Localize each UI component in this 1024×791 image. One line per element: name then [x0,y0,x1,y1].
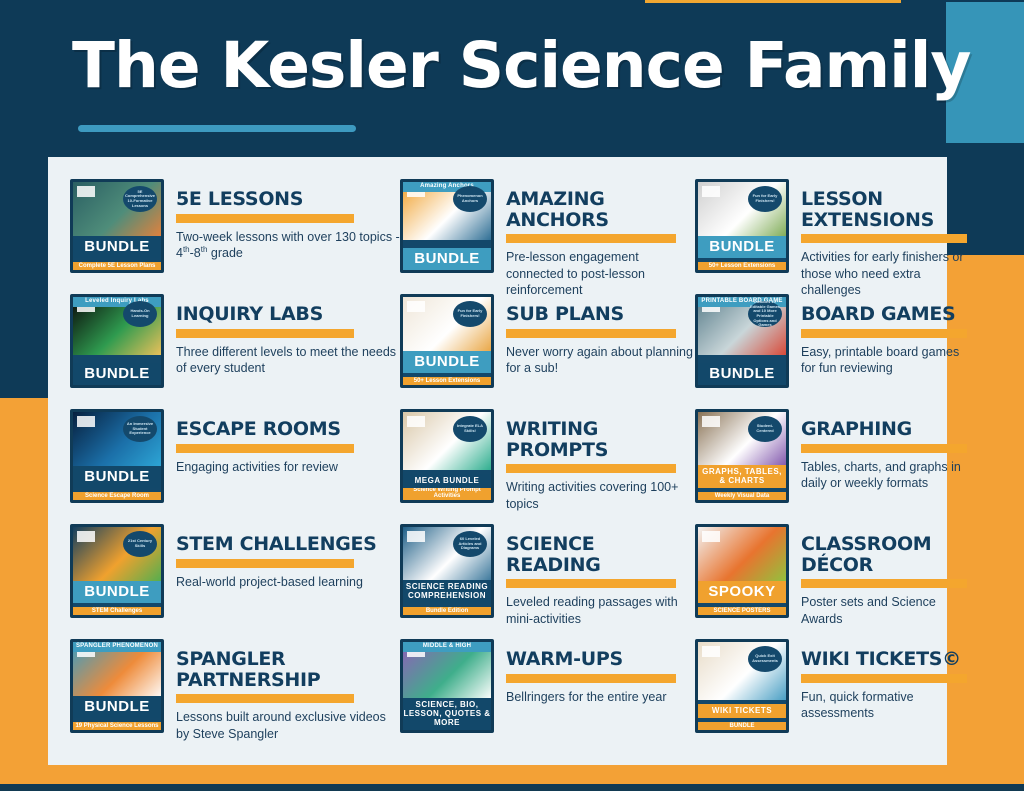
product-item[interactable]: Amazing AnchorsPhenomenon AnchorsBUNDLEA… [400,179,695,294]
product-item[interactable]: 60 Leveled Articles and DiagramsBundle E… [400,524,695,639]
kesler-logo-icon [77,416,95,427]
product-description: Lessons built around exclusive videos by… [176,709,400,742]
kesler-logo-icon [77,186,95,197]
bottom-rule [0,786,1024,791]
thumbnail-bundle-label: SCIENCE READING COMPREHENSION [403,580,491,603]
thumbnail-top-band: MIDDLE & HIGH [403,642,491,652]
product-thumbnail[interactable]: Fun for Early Finishers!50+ Lesson Exten… [695,179,789,273]
title-underline [78,125,356,132]
thumbnail-badge: Fun for Early Finishers! [453,301,487,327]
product-thumbnail[interactable]: Quick Exit AssessmentsBUNDLEWIKI TICKETS [695,639,789,733]
product-item[interactable]: Student-CenteredWeekly Visual DataGRAPHS… [695,409,969,524]
title-accent-bar [506,329,676,338]
product-text: SPANGLER PARTNERSHIPLessons built around… [176,639,400,742]
title-accent-bar [506,579,676,588]
product-description: Activities for early finishers or those … [801,249,969,299]
product-text: SUB PLANSNever worry again about plannin… [506,294,695,377]
product-thumbnail[interactable]: Integrate ELA Skills!Science Writing Pro… [400,409,494,503]
kesler-logo-icon [407,301,425,312]
product-title: ESCAPE ROOMS [176,419,400,440]
thumbnail-bundle-label: SPOOKY [698,581,786,603]
thumbnail-badge: 21st Century Skills [123,531,157,557]
product-thumbnail[interactable]: 60 Leveled Articles and DiagramsBundle E… [400,524,494,618]
product-thumbnail[interactable]: PRINTABLE BOARD GAMEIncludes 10 Editable… [695,294,789,388]
product-title: CLASSROOM DÉCOR [801,534,969,575]
title-accent-bar [176,444,354,453]
product-title: GRAPHING [801,419,969,440]
product-thumbnail[interactable]: 5E Comprehensive 10-Formative LessonsCom… [70,179,164,273]
thumbnail-subtitle: Science Escape Room [73,492,161,500]
thumbnail-badge: Student-Centered [748,416,782,442]
product-text: AMAZING ANCHORSPre-lesson engagement con… [506,179,695,299]
thumbnail-bundle-label: BUNDLE [73,236,161,258]
product-title: SCIENCE READING [506,534,695,575]
thumbnail-badge: Hands-On Learning [123,301,157,327]
product-item[interactable]: PRINTABLE BOARD GAMEIncludes 10 Editable… [695,294,969,409]
product-item[interactable]: Leveled Inquiry LabsHands-On LearningBUN… [70,294,400,409]
product-text: WARM-UPSBellringers for the entire year [506,639,695,705]
product-title: STEM CHALLENGES [176,534,400,555]
thumbnail-subtitle: 50+ Lesson Extensions [403,377,491,385]
product-item[interactable]: Quick Exit AssessmentsBUNDLEWIKI TICKETS… [695,639,969,749]
product-item[interactable]: 5E Comprehensive 10-Formative LessonsCom… [70,179,400,294]
title-accent-bar [801,674,967,683]
thumbnail-bundle-label: BUNDLE [73,581,161,603]
kesler-logo-icon [77,531,95,542]
thumbnail-badge: 5E Comprehensive 10-Formative Lessons [123,186,157,212]
title-accent-bar [176,329,354,338]
product-text: 5E LESSONSTwo-week lessons with over 130… [176,179,400,262]
kesler-logo-icon [407,416,425,427]
title-accent-bar [176,694,354,703]
product-thumbnail[interactable]: Student-CenteredWeekly Visual DataGRAPHS… [695,409,789,503]
product-title: WRITING PROMPTS [506,419,695,460]
thumbnail-bundle-label: BUNDLE [73,363,161,385]
product-item[interactable]: An Immersive Student ExperienceScience E… [70,409,400,524]
product-description: Leveled reading passages with mini-activ… [506,594,695,627]
title-accent-bar [801,579,967,588]
product-title: BOARD GAMES [801,304,969,325]
product-text: BOARD GAMESEasy, printable board games f… [801,294,969,377]
product-text: INQUIRY LABSThree different levels to me… [176,294,400,377]
product-item[interactable]: SPANGLER PHENOMENON19 Physical Science L… [70,639,400,749]
kesler-logo-icon [702,416,720,427]
product-thumbnail[interactable]: 21st Century SkillsSTEM ChallengesBUNDLE [70,524,164,618]
product-text: GRAPHINGTables, charts, and graphs in da… [801,409,969,492]
thumbnail-bundle-label: BUNDLE [698,363,786,385]
product-description: Bellringers for the entire year [506,689,695,706]
thumbnail-subtitle: SCIENCE POSTERS [698,607,786,615]
product-item[interactable]: Fun for Early Finishers!50+ Lesson Exten… [400,294,695,409]
product-thumbnail[interactable]: MIDDLE & HIGHSCIENCE, BIO, LESSON, QUOTE… [400,639,494,733]
product-title: LESSON EXTENSIONS [801,189,969,230]
kesler-logo-icon [702,531,720,542]
product-item[interactable]: 21st Century SkillsSTEM ChallengesBUNDLE… [70,524,400,639]
product-text: CLASSROOM DÉCORPoster sets and Science A… [801,524,969,627]
product-title: SPANGLER PARTNERSHIP [176,649,400,690]
product-description: Tables, charts, and graphs in daily or w… [801,459,969,492]
product-description: Three different levels to meet the needs… [176,344,400,377]
title-accent-bar [506,674,676,683]
product-thumbnail[interactable]: SCIENCE POSTERSSPOOKY [695,524,789,618]
thumbnail-subtitle: Science Writing Prompt Activities [403,486,491,500]
title-accent-bar [176,214,354,223]
title-accent-bar [801,234,967,243]
thumbnail-subtitle: Bundle Edition [403,607,491,615]
thumbnail-bundle-label: MEGA BUNDLE [403,474,491,488]
title-accent-bar [176,559,354,568]
product-description: Two-week lessons with over 130 topics - … [176,229,400,262]
product-text: STEM CHALLENGESReal-world project-based … [176,524,400,590]
product-description: Poster sets and Science Awards [801,594,969,627]
product-title: INQUIRY LABS [176,304,400,325]
page-title: The Kesler Science Family [72,34,942,97]
title-accent-bar [801,444,967,453]
product-title: SUB PLANS [506,304,695,325]
product-text: WRITING PROMPTSWriting activities coveri… [506,409,695,512]
product-text: LESSON EXTENSIONSActivities for early fi… [801,179,969,299]
product-thumbnail[interactable]: Leveled Inquiry LabsHands-On LearningBUN… [70,294,164,388]
thumbnail-subtitle: BUNDLE [698,722,786,730]
product-description: Fun, quick formative assessments [801,689,969,722]
product-grid: 5E Comprehensive 10-Formative LessonsCom… [48,157,947,765]
thumbnail-subtitle: STEM Challenges [73,607,161,615]
product-item[interactable]: Integrate ELA Skills!Science Writing Pro… [400,409,695,524]
thumbnail-badge: Integrate ELA Skills! [453,416,487,442]
product-thumbnail[interactable]: Amazing AnchorsPhenomenon AnchorsBUNDLE [400,179,494,273]
title-accent-bar [506,234,676,243]
thumbnail-badge: Phenomenon Anchors [453,186,487,212]
product-item[interactable]: SCIENCE POSTERSSPOOKYCLASSROOM DÉCORPost… [695,524,969,639]
thumbnail-bundle-label: BUNDLE [698,236,786,258]
product-description: Writing activities covering 100+ topics [506,479,695,512]
thumbnail-subtitle: 19 Physical Science Lessons [73,722,161,730]
product-description: Real-world project-based learning [176,574,400,591]
thumbnail-top-band: SPANGLER PHENOMENON [73,642,161,652]
product-title: AMAZING ANCHORS [506,189,695,230]
product-text: WIKI TICKETS©Fun, quick formative assess… [801,639,969,722]
product-description: Easy, printable board games for fun revi… [801,344,969,377]
thumbnail-bundle-label: BUNDLE [403,248,491,270]
product-text: SCIENCE READINGLeveled reading passages … [506,524,695,627]
product-thumbnail[interactable]: SPANGLER PHENOMENON19 Physical Science L… [70,639,164,733]
title-accent-bar [506,464,676,473]
product-item[interactable]: Fun for Early Finishers!50+ Lesson Exten… [695,179,969,294]
product-title: WARM-UPS [506,649,695,670]
kesler-logo-icon [702,646,720,657]
thumbnail-badge: 60 Leveled Articles and Diagrams [453,531,487,557]
thumbnail-bundle-label: BUNDLE [403,351,491,373]
thumbnail-badge: Includes 10 Editable Games and 10 More P… [748,301,782,327]
product-item[interactable]: MIDDLE & HIGHSCIENCE, BIO, LESSON, QUOTE… [400,639,695,749]
product-title: WIKI TICKETS© [801,649,969,670]
thumbnail-subtitle: Weekly Visual Data [698,492,786,500]
product-description: Never worry again about planning for a s… [506,344,695,377]
product-text: ESCAPE ROOMSEngaging activities for revi… [176,409,400,475]
thumbnail-badge: Quick Exit Assessments [748,646,782,672]
header: The Kesler Science Family [0,0,946,157]
thumbnail-subtitle: Complete 5E Lesson Plans [73,262,161,270]
thumbnail-badge: An Immersive Student Experience [123,416,157,442]
thumbnail-bundle-label: BUNDLE [73,696,161,718]
kesler-logo-icon [407,531,425,542]
thumbnail-subtitle: 50+ Lesson Extensions [698,262,786,270]
product-title: 5E LESSONS [176,189,400,210]
thumbnail-bundle-label: GRAPHS, TABLES, & CHARTS [698,465,786,488]
title-accent-bar [801,329,967,338]
product-description: Pre-lesson engagement connected to post-… [506,249,695,299]
thumbnail-bundle-label: WIKI TICKETS [698,704,786,718]
product-description: Engaging activities for review [176,459,400,476]
product-thumbnail[interactable]: Fun for Early Finishers!50+ Lesson Exten… [400,294,494,388]
thumbnail-bundle-label: BUNDLE [73,466,161,488]
product-thumbnail[interactable]: An Immersive Student ExperienceScience E… [70,409,164,503]
kesler-logo-icon [702,186,720,197]
thumbnail-bundle-label: SCIENCE, BIO, LESSON, QUOTES & MORE [403,698,491,730]
thumbnail-badge: Fun for Early Finishers! [748,186,782,212]
content-card: 5E Comprehensive 10-Formative LessonsCom… [48,157,947,765]
